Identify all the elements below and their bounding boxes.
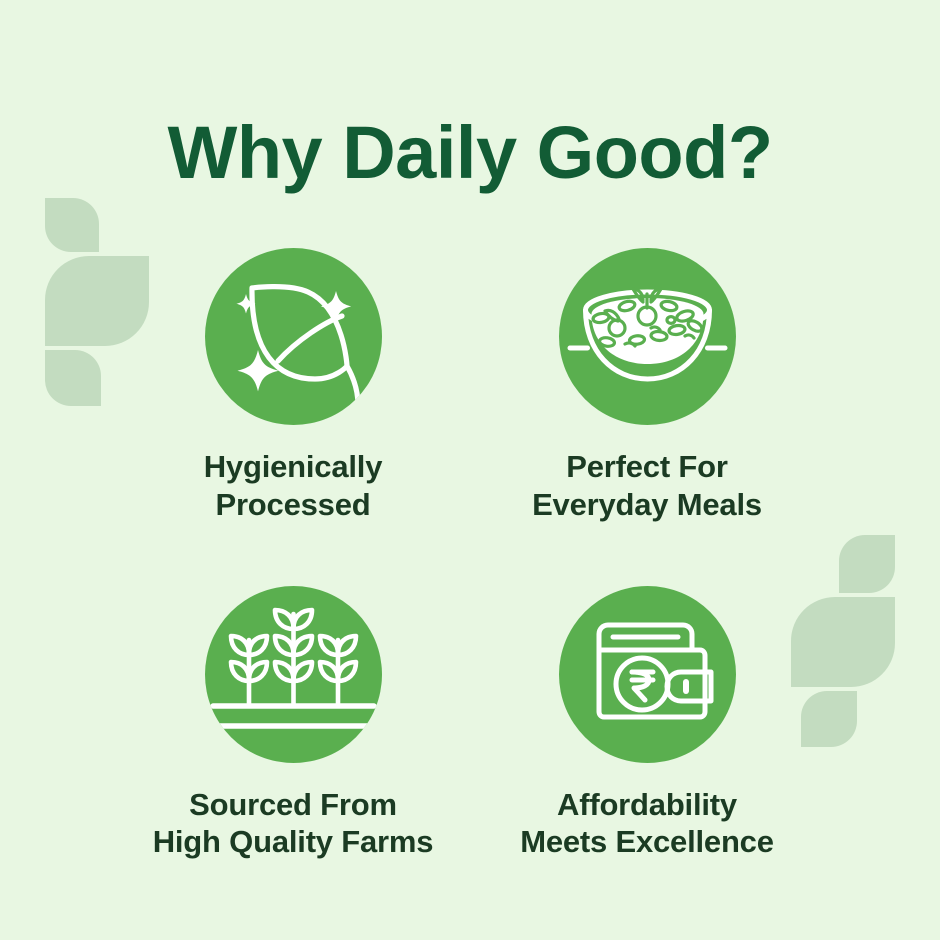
feature-label: Affordability Meets Excellence xyxy=(520,786,774,862)
sparkling-leaf-icon xyxy=(205,248,382,425)
feature-item-hygienically-processed[interactable]: Hygienically Processed xyxy=(120,248,466,524)
leaf-shape-small-bottom xyxy=(45,350,101,406)
wallet-rupee-icon xyxy=(559,586,736,763)
promo-card: Why Daily Good? Hygien xyxy=(0,0,940,940)
feature-label: Hygienically Processed xyxy=(204,448,383,524)
feature-item-high-quality-farms[interactable]: Sourced From High Quality Farms xyxy=(120,586,466,862)
soup-bowl-icon xyxy=(559,248,736,425)
feature-item-affordability[interactable]: Affordability Meets Excellence xyxy=(474,586,820,862)
page-title: Why Daily Good? xyxy=(0,116,940,190)
crop-field-icon xyxy=(205,586,382,763)
feature-label: Perfect For Everyday Meals xyxy=(532,448,762,524)
feature-grid: Hygienically Processed xyxy=(120,248,820,861)
feature-item-everyday-meals[interactable]: Perfect For Everyday Meals xyxy=(474,248,820,524)
feature-label: Sourced From High Quality Farms xyxy=(153,786,434,862)
leaf-shape-small-top xyxy=(839,535,895,593)
leaf-shape-small-top xyxy=(45,198,99,252)
